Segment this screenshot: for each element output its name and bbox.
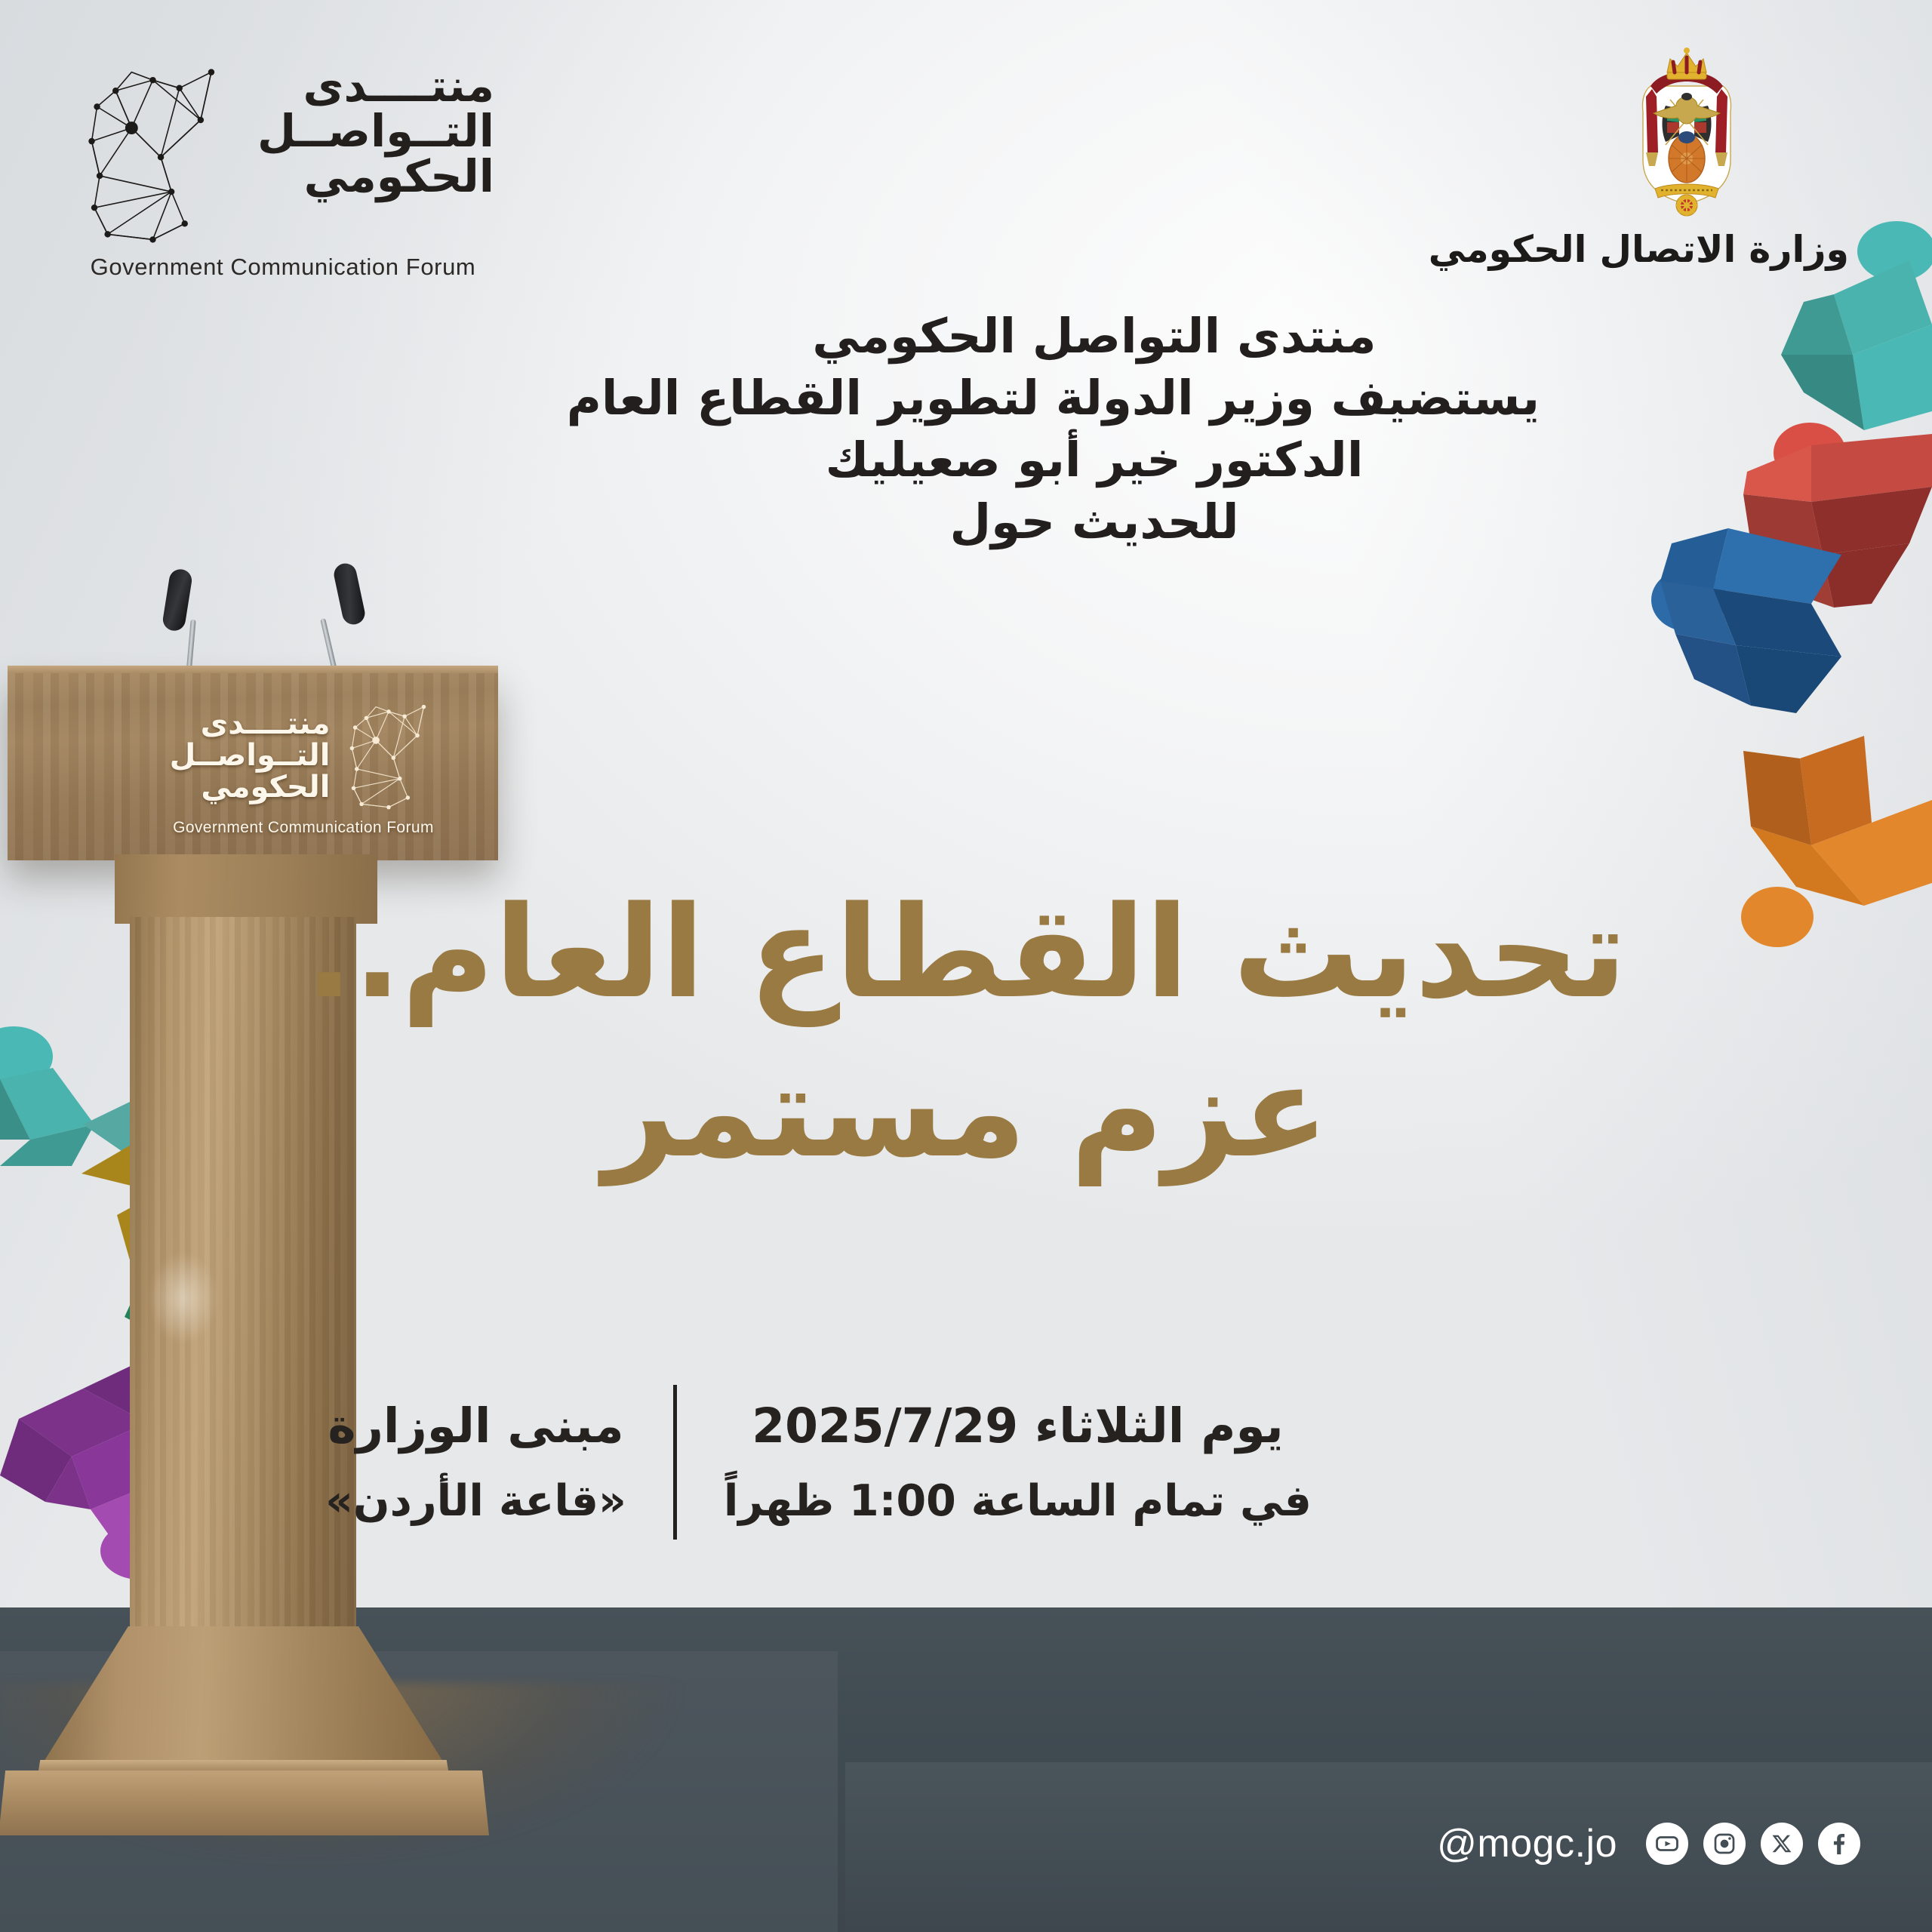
podium-plate-english: Government Communication Forum <box>115 819 492 837</box>
event-title-line-1: تحديث القطاع العام.. <box>143 879 1789 1026</box>
podium-plate-line1: منتــــدى <box>170 708 331 740</box>
forum-logo: منتــــدى التــواصــل الحكومي Government… <box>72 59 494 308</box>
podium-plate-line3: الحكومي <box>170 771 331 803</box>
facebook-icon[interactable] <box>1818 1823 1860 1865</box>
header-line-4: للحديث حول <box>649 491 1540 553</box>
forum-logo-line2: التــواصــل <box>257 109 494 154</box>
venue-hall: «قاعة الأردن» <box>325 1476 626 1526</box>
podium-logo-plate: منتــــدى التــواصــل الحكومي <box>107 702 500 834</box>
podium-skirt <box>38 1626 449 1771</box>
event-time: في تمام الساعة 1:00 ظهراً <box>724 1476 1312 1526</box>
event-title-line-2: عزم مستمر <box>143 1038 1789 1186</box>
forum-logo-line3: الحكومي <box>257 154 494 199</box>
x-twitter-icon[interactable] <box>1761 1823 1803 1865</box>
forum-logo-english: Government Communication Forum <box>72 254 494 281</box>
event-venue: مبنى الوزارة «قاعة الأردن» <box>278 1398 673 1526</box>
social-links: @mogc.jo <box>1437 1821 1860 1866</box>
event-datetime: يوم الثلاثاء 2025/7/29 في تمام الساعة 1:… <box>677 1398 1358 1526</box>
header-paragraph: منتدى التواصل الحكومي يستضيف وزير الدولة… <box>649 306 1540 553</box>
event-date: يوم الثلاثاء 2025/7/29 <box>724 1398 1312 1454</box>
podium: منتــــدى التــواصــل الحكومي <box>0 574 755 1811</box>
event-poster: منتــــدى التــواصــل الحكومي <box>0 0 1932 1932</box>
event-title: تحديث القطاع العام.. عزم مستمر <box>143 879 1789 1186</box>
header-line-2: يستضيف وزير الدولة لتطوير القطاع العام <box>649 368 1540 429</box>
jordan-map-network-icon <box>340 699 437 812</box>
podium-base <box>0 1770 489 1835</box>
details-divider <box>673 1385 677 1540</box>
ministry-logo: وزارة الاتصال الحكومي <box>1524 47 1849 271</box>
header-line-1: منتدى التواصل الحكومي <box>649 306 1540 368</box>
youtube-icon[interactable] <box>1646 1823 1688 1865</box>
jordan-map-network-icon <box>72 59 234 248</box>
venue-building: مبنى الوزارة <box>325 1398 626 1454</box>
forum-logo-words: منتــــدى التــواصــل الحكومي <box>257 63 494 200</box>
ministry-name: وزارة الاتصال الحكومي <box>1524 228 1849 271</box>
podium-plate-words: منتــــدى التــواصــل الحكومي <box>170 708 331 803</box>
footer-bar: @mogc.jo <box>845 1762 1932 1932</box>
instagram-icon[interactable] <box>1703 1823 1746 1865</box>
forum-logo-line1: منتــــدى <box>257 63 494 109</box>
event-details: يوم الثلاثاء 2025/7/29 في تمام الساعة 1:… <box>278 1385 1358 1540</box>
social-handle[interactable]: @mogc.jo <box>1437 1821 1617 1866</box>
podium-desk-front: منتــــدى التــواصــل الحكومي <box>8 673 498 860</box>
podium-light-flare <box>149 1253 217 1343</box>
jordan-coat-of-arms-icon <box>1611 47 1762 220</box>
header-line-3: الدكتور خير أبو صعيليك <box>649 429 1540 491</box>
podium-plate-line2: التــواصــل <box>170 740 331 771</box>
